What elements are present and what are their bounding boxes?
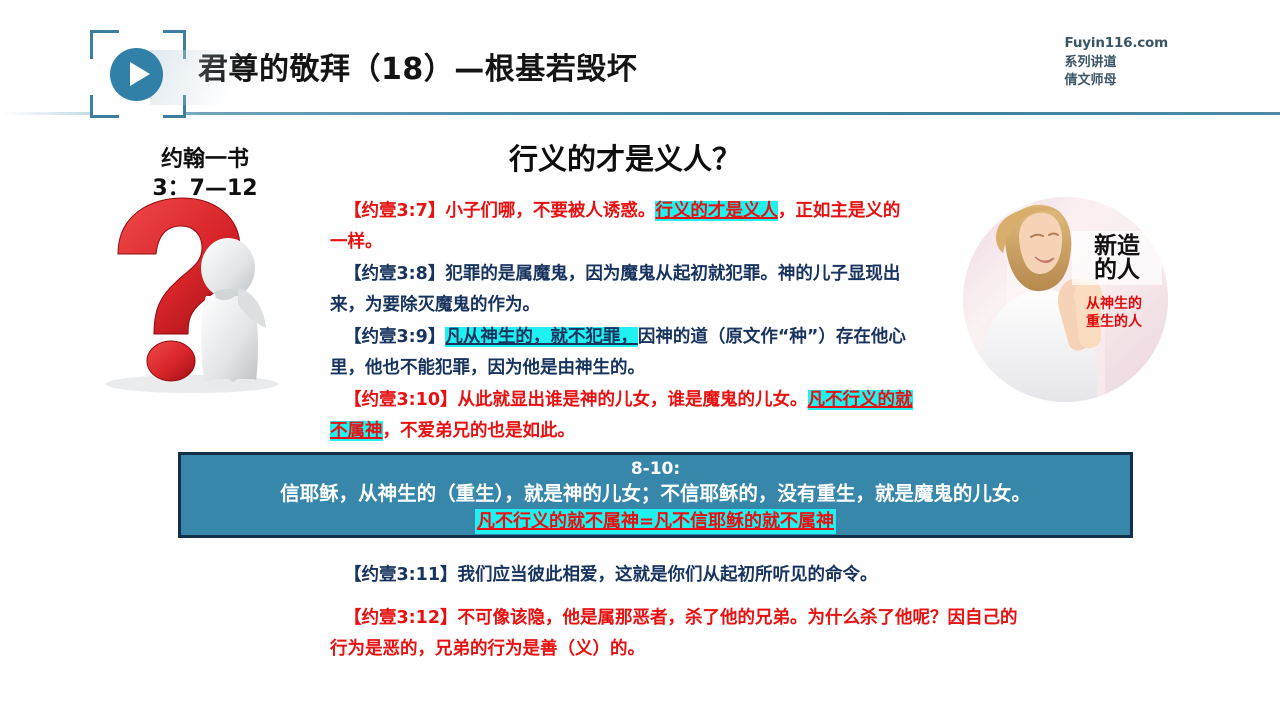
verse-text: ，不爱弟兄的也是如此。 xyxy=(383,421,576,441)
verse-ref: 【约壹3:10】 xyxy=(344,390,458,410)
verse-highlight: 凡从神生的，就不犯罪， xyxy=(445,327,638,347)
verse-ref: 【约壹3:12】 xyxy=(344,608,458,628)
section-heading: 行义的才是义人？ xyxy=(330,136,920,178)
callout-equation: 凡不行义的就不属神=凡不信耶稣的就不属神 xyxy=(475,509,836,534)
scripture-reference: 约翰一书 3：7—12 xyxy=(60,145,350,204)
brand-author: 倩文师母 xyxy=(1065,72,1168,91)
photo-caption: 新造 的人 xyxy=(1072,231,1162,285)
brand-site: Fuyin116.com xyxy=(1065,34,1168,54)
brand-series: 系列讲道 xyxy=(1065,54,1168,73)
verse-row: 【约壹3:9】凡从神生的，就不犯罪，因神的道（原文作“种”）存在他心里，他也不能… xyxy=(330,322,915,384)
logo-sheen xyxy=(150,50,270,105)
verse-block-bottom: 【约壹3:11】我们应当彼此相爱，这就是你们从起初所听见的命令。 【约壹3:12… xyxy=(330,560,1030,677)
photo-subtitle-line2: 重生的人 xyxy=(1068,313,1160,331)
reference-book: 约翰一书 xyxy=(60,145,350,174)
callout-statement: 信耶稣，从神生的（重生），就是神的儿女；不信耶稣的，没有重生，就是魔鬼的儿女。 xyxy=(181,480,1130,508)
play-triangle-icon xyxy=(130,62,150,86)
question-mark-3d-icon xyxy=(88,196,300,396)
verse-ref: 【约壹3:9】 xyxy=(344,327,445,347)
verse-ref: 【约壹3:11】 xyxy=(344,565,458,585)
verse-block-top: 【约壹3:7】小子们哪，不要被人诱惑。行义的才是义人，正如主是义的一样。 【约壹… xyxy=(330,196,915,448)
verse-row: 【约壹3:7】小子们哪，不要被人诱惑。行义的才是义人，正如主是义的一样。 xyxy=(330,196,915,258)
photo-caption-line2: 的人 xyxy=(1074,258,1160,282)
verse-row: 【约壹3:11】我们应当彼此相爱，这就是你们从起初所听见的命令。 xyxy=(330,560,1030,591)
brand-block: Fuyin116.com 系列讲道 倩文师母 xyxy=(1065,34,1168,91)
photo-subtitle-line1: 从神生的 xyxy=(1068,295,1160,313)
callout-title: 8-10: xyxy=(181,458,1130,480)
verse-row: 【约壹3:10】从此就显出谁是神的儿女，谁是魔鬼的儿女。凡不行义的就不属神，不爱… xyxy=(330,385,915,447)
photo-caption-line1: 新造 xyxy=(1074,234,1160,258)
verse-highlight: 行义的才是义人 xyxy=(655,201,778,221)
verse-row: 【约壹3:12】不可像该隐，他是属那恶者，杀了他的兄弟。为什么杀了他呢？因自己的… xyxy=(330,603,1030,665)
summary-callout-box: 8-10: 信耶稣，从神生的（重生），就是神的儿女；不信耶稣的，没有重生，就是魔… xyxy=(178,452,1133,538)
praying-woman-photo: 新造 的人 从神生的 重生的人 xyxy=(963,197,1168,402)
verse-text: 我们应当彼此相爱，这就是你们从起初所听见的命令。 xyxy=(458,565,878,585)
header-divider xyxy=(0,112,1280,115)
play-button-icon[interactable] xyxy=(110,48,163,101)
verse-row: 【约壹3:8】犯罪的是属魔鬼，因为魔鬼从起初就犯罪。神的儿子显现出来，为要除灭魔… xyxy=(330,259,915,321)
verse-ref: 【约壹3:7】 xyxy=(344,201,445,221)
verse-text: 小子们哪，不要被人诱惑。 xyxy=(445,201,655,221)
verse-text: 从此就显出谁是神的儿女，谁是魔鬼的儿女。 xyxy=(458,390,808,410)
verse-ref: 【约壹3:8】 xyxy=(344,264,445,284)
slide-canvas: 君尊的敬拜（18）—根基若毁坏 Fuyin116.com 系列讲道 倩文师母 约… xyxy=(0,0,1280,720)
photo-subtitle: 从神生的 重生的人 xyxy=(1068,295,1160,331)
